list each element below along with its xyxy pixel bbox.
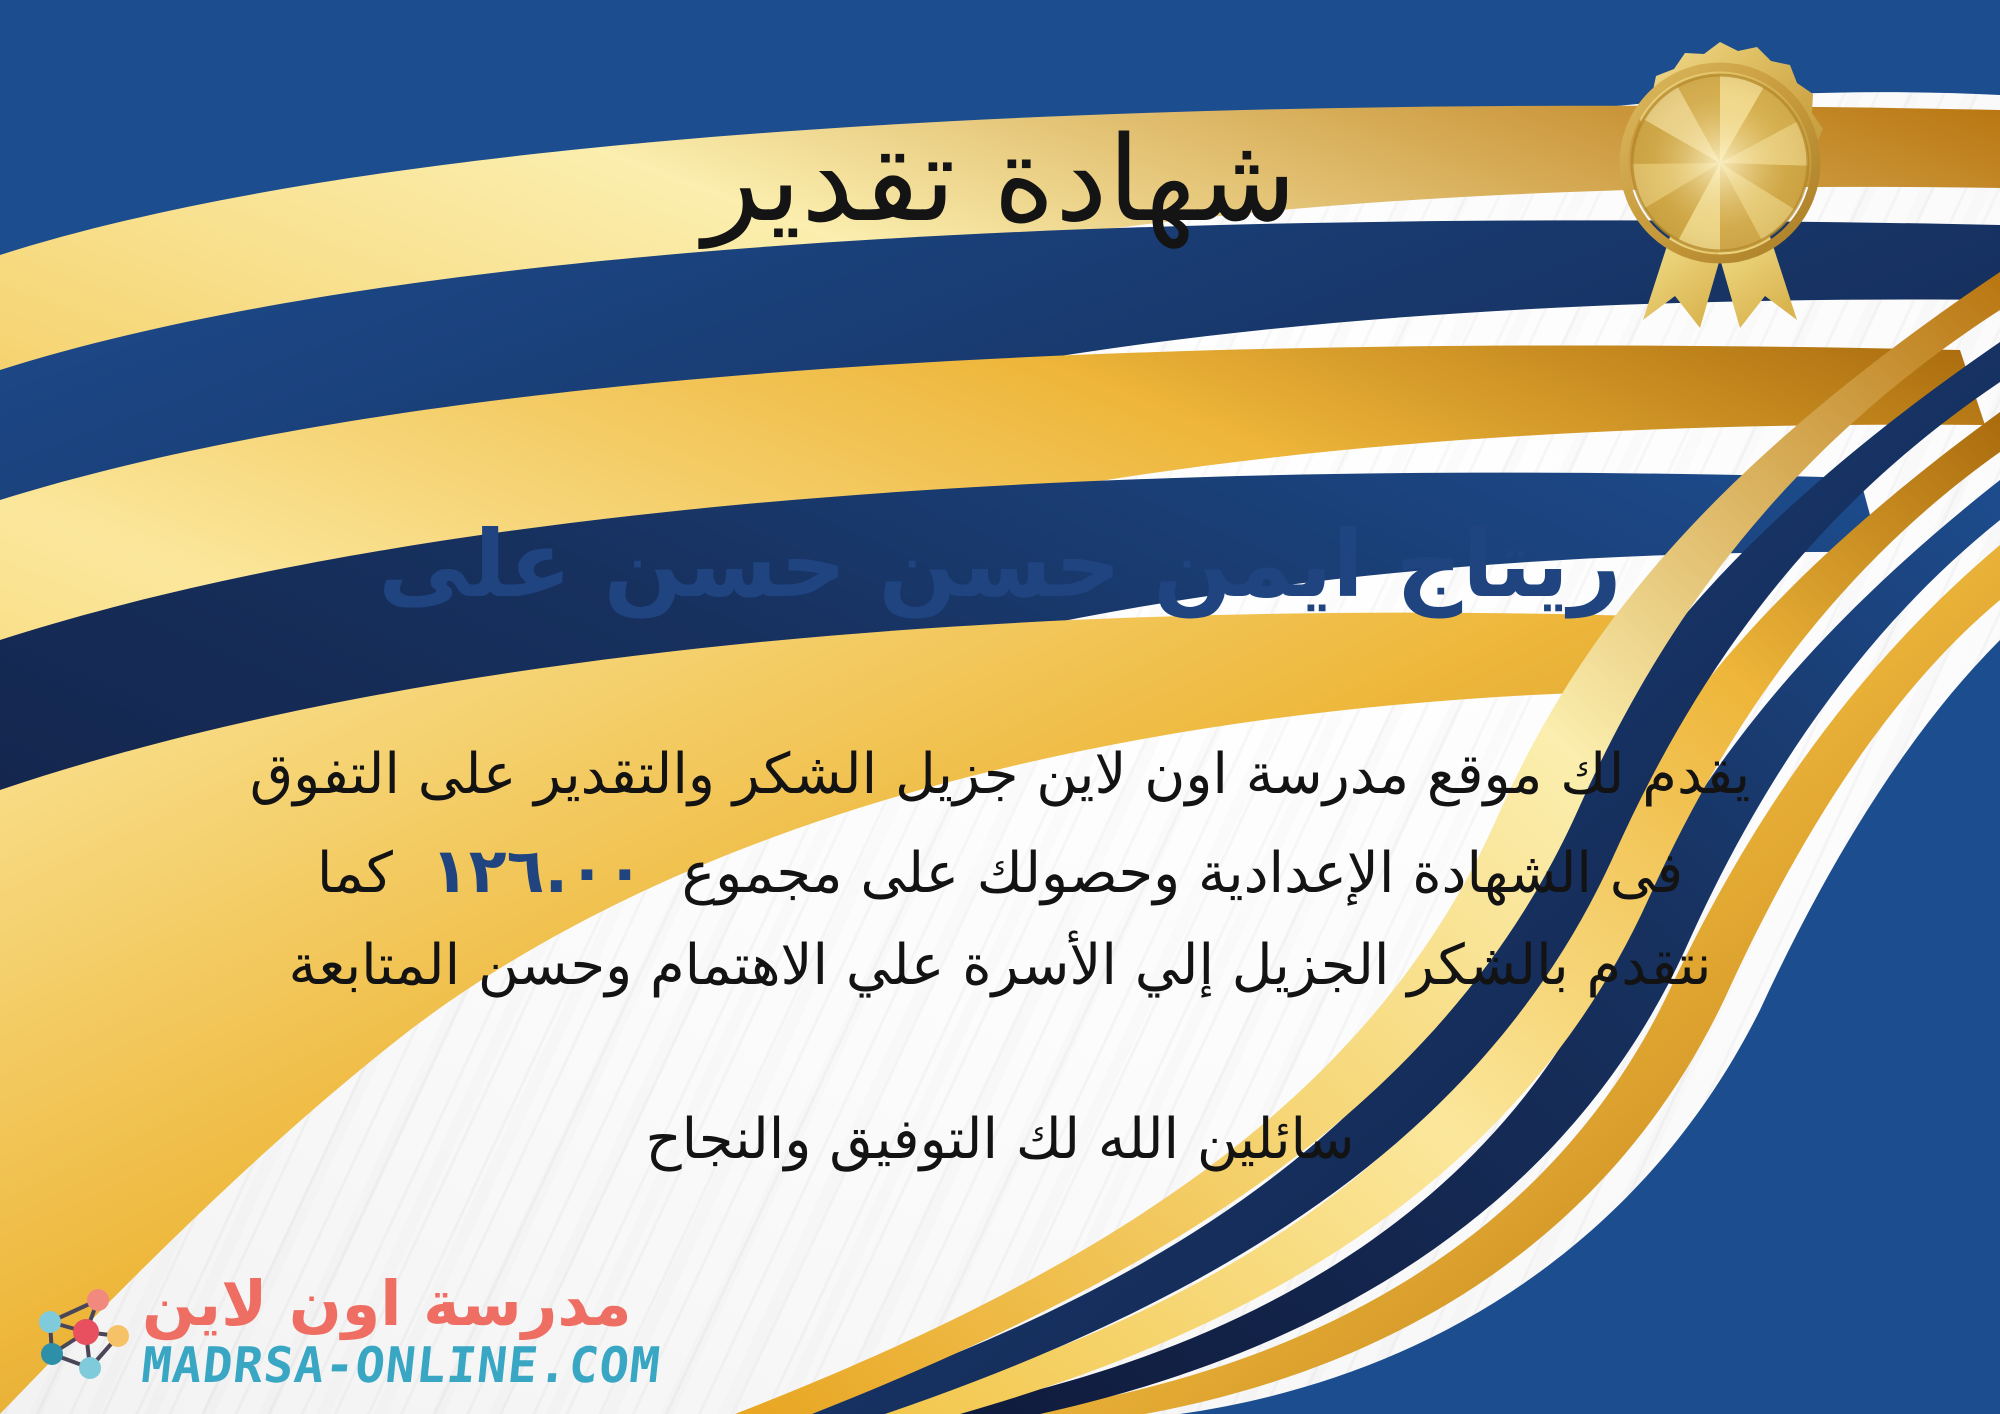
certificate-body: يقدم لك موقع مدرسة اون لاين جزيل الشكر و… — [120, 730, 1880, 1012]
certificate-canvas: شهادة تقدير ريتاج ايمن حسن حسن على يقدم … — [0, 0, 2000, 1414]
body-line-3: نتقدم بالشكر الجزيل إلي الأسرة علي الاهت… — [120, 921, 1880, 1012]
network-nodes-icon — [28, 1280, 132, 1384]
certificate-title: شهادة تقدير — [0, 112, 2000, 248]
brand-text: مدرسة اون لاين MADRSA-ONLINE.COM — [142, 1273, 661, 1390]
body-line-2-prefix: فى الشهادة الإعدادية وحصولك على مجموع — [682, 841, 1684, 906]
body-line-1: يقدم لك موقع مدرسة اون لاين جزيل الشكر و… — [120, 730, 1880, 821]
body-line-2: فى الشهادة الإعدادية وحصولك على مجموع١٢٦… — [120, 821, 1880, 921]
brand-website[interactable]: MADRSA-ONLINE.COM — [139, 1341, 663, 1390]
brand-logo[interactable]: مدرسة اون لاين MADRSA-ONLINE.COM — [28, 1273, 661, 1390]
score-value: ١٢٦.٠٠ — [393, 834, 682, 907]
brand-arabic-name: مدرسة اون لاين — [142, 1273, 632, 1335]
closing-line: سائلين الله لك التوفيق والنجاح — [0, 1098, 2000, 1182]
recipient-name: ريتاج ايمن حسن حسن على — [0, 510, 2000, 620]
certificate-content: شهادة تقدير ريتاج ايمن حسن حسن على يقدم … — [0, 0, 2000, 1414]
body-line-2-suffix: كما — [317, 841, 393, 906]
